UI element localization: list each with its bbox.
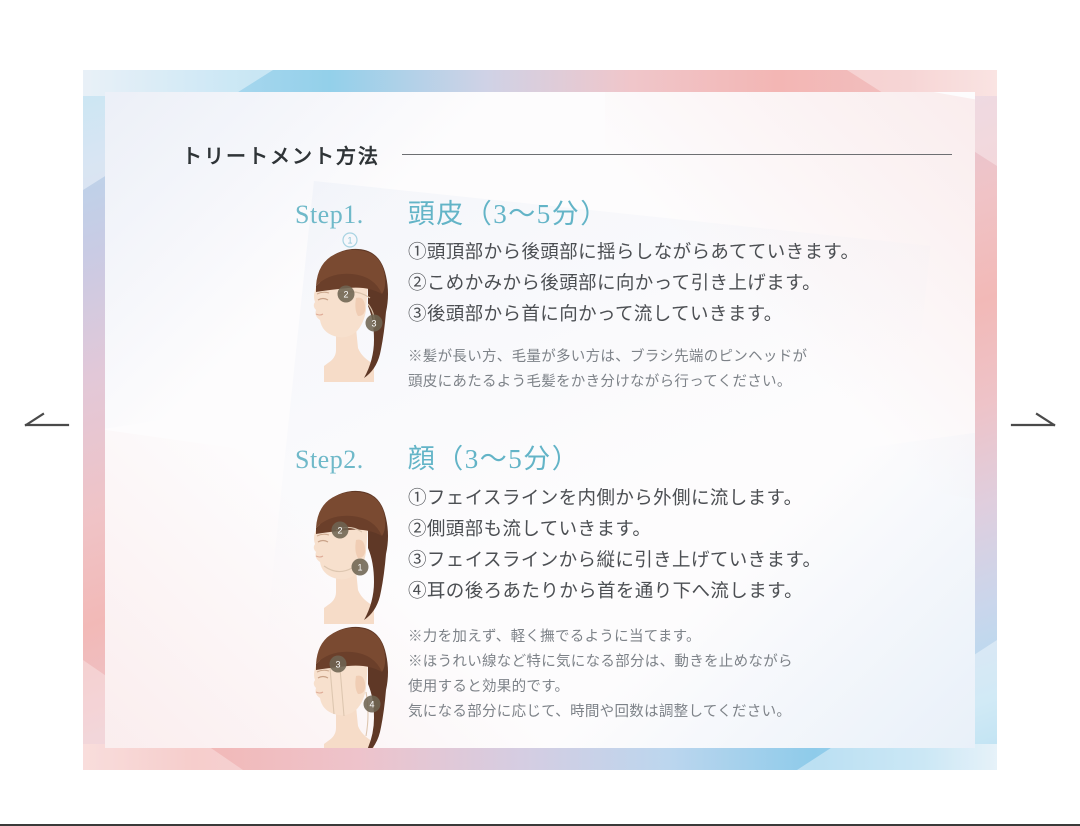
step-2-instructions: ①フェイスラインを内側から外側に流します。 ②側頭部も流していきます。 ③フェイ… [408, 484, 821, 608]
instruction-item: ②こめかみから後頭部に向かって引き上げます。 [408, 269, 859, 300]
step-2-heading: Step2. 顔（3〜5分） [295, 437, 580, 476]
arrow-left-icon [26, 414, 68, 425]
marker-3: 3 [366, 315, 383, 332]
instruction-item: ④耳の後ろあたりから首を通り下へ流します。 [408, 577, 821, 608]
step-1-notes: ※髪が長い方、毛量が多い方は、ブラシ先端のピンヘッドが 頭皮にあたるよう毛髪をか… [408, 345, 807, 395]
step-1-label: Step1. [295, 200, 364, 230]
marker-3: 3 [330, 656, 347, 673]
marker-1: 1 [352, 559, 369, 576]
page-title-row: トリートメント方法 [182, 140, 952, 169]
note-line: 使用すると効果的です。 [408, 675, 793, 700]
marker-2: 2 [332, 522, 349, 539]
instruction-item: ①頭頂部から後頭部に揺らしながらあてていきます。 [408, 238, 859, 269]
next-slide-arrow[interactable] [1006, 398, 1062, 444]
svg-text:4: 4 [369, 700, 374, 710]
svg-text:1: 1 [357, 563, 362, 573]
instruction-item: ③フェイスラインから縦に引き上げていきます。 [408, 546, 821, 577]
svg-text:2: 2 [337, 526, 342, 536]
note-line: ※ほうれい線など特に気になる部分は、動きを止めながら [408, 650, 793, 675]
svg-text:1: 1 [347, 236, 352, 246]
instruction-card: トリートメント方法 Step1. 頭皮（3〜5分） [83, 70, 997, 770]
instruction-item: ③後頭部から首に向かって流していきます。 [408, 300, 859, 331]
title-divider [402, 154, 952, 155]
head-illustration-face-lower: 3 4 [290, 610, 410, 748]
note-line: 頭皮にあたるよう毛髪をかき分けながら行ってください。 [408, 370, 807, 395]
head-illustration-face-upper: 2 1 [290, 474, 410, 624]
note-line: ※力を加えず、軽く撫でるように当てます。 [408, 625, 793, 650]
svg-text:3: 3 [335, 660, 340, 670]
prev-slide-arrow[interactable] [18, 398, 74, 444]
instruction-item: ①フェイスラインを内側から外側に流します。 [408, 484, 821, 515]
svg-text:2: 2 [343, 290, 348, 300]
card-content-surface: トリートメント方法 Step1. 頭皮（3〜5分） [105, 92, 975, 748]
step-1-instructions: ①頭頂部から後頭部に揺らしながらあてていきます。 ②こめかみから後頭部に向かって… [408, 238, 859, 331]
page-title: トリートメント方法 [182, 140, 380, 169]
step-2-title: 顔（3〜5分） [408, 437, 581, 476]
note-line: 気になる部分に応じて、時間や回数は調整してください。 [408, 700, 793, 725]
arrow-right-icon [1012, 414, 1054, 425]
step-2-notes: ※力を加えず、軽く撫でるように当てます。 ※ほうれい線など特に気になる部分は、動… [408, 625, 793, 725]
marker-2: 2 [338, 286, 355, 303]
step-1-heading: Step1. 頭皮（3〜5分） [295, 192, 609, 231]
svg-text:3: 3 [371, 319, 376, 329]
step-1-title: 頭皮（3〜5分） [408, 192, 609, 231]
marker-1: 1 [343, 233, 357, 247]
instruction-item: ②側頭部も流していきます。 [408, 515, 821, 546]
step-2-label: Step2. [295, 445, 364, 475]
note-line: ※髪が長い方、毛量が多い方は、ブラシ先端のピンヘッドが [408, 345, 807, 370]
marker-4: 4 [364, 696, 381, 713]
head-illustration-scalp: 1 2 3 [290, 232, 410, 382]
